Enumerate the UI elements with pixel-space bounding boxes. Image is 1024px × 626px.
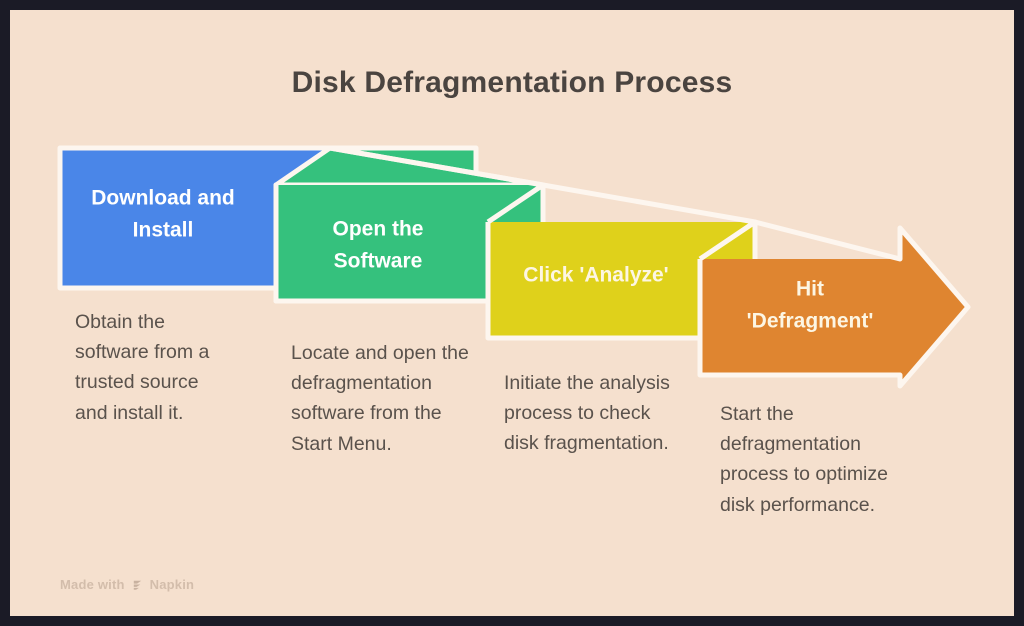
diagram-canvas: Disk Defragmentation Process Download an…	[10, 10, 1014, 616]
watermark-brand: Napkin	[150, 577, 195, 592]
step-label-line1: Download and	[91, 187, 235, 210]
step-label-line2: 'Defragment'	[747, 310, 874, 333]
image-frame: Disk Defragmentation Process Download an…	[0, 0, 1024, 626]
step-caption-open-the-software: Locate and open the defragmentation soft…	[291, 338, 487, 459]
watermark: Made with Napkin	[60, 577, 194, 592]
napkin-logo-icon	[131, 578, 144, 591]
step-label-line2: Software	[334, 250, 423, 273]
step-label-line2: Install	[133, 219, 194, 242]
watermark-prefix: Made with	[60, 577, 125, 592]
step-caption-click-analyze: Initiate the analysis process to check d…	[504, 368, 684, 459]
step-label-line1: Hit	[796, 278, 824, 301]
step-caption-download-and-install: Obtain the software from a trusted sourc…	[75, 307, 235, 428]
step-label-line1: Open the	[332, 218, 423, 241]
step-caption-hit-defragment: Start the defragmentation process to opt…	[720, 399, 920, 520]
step-label-line1: Click 'Analyze'	[523, 264, 668, 287]
